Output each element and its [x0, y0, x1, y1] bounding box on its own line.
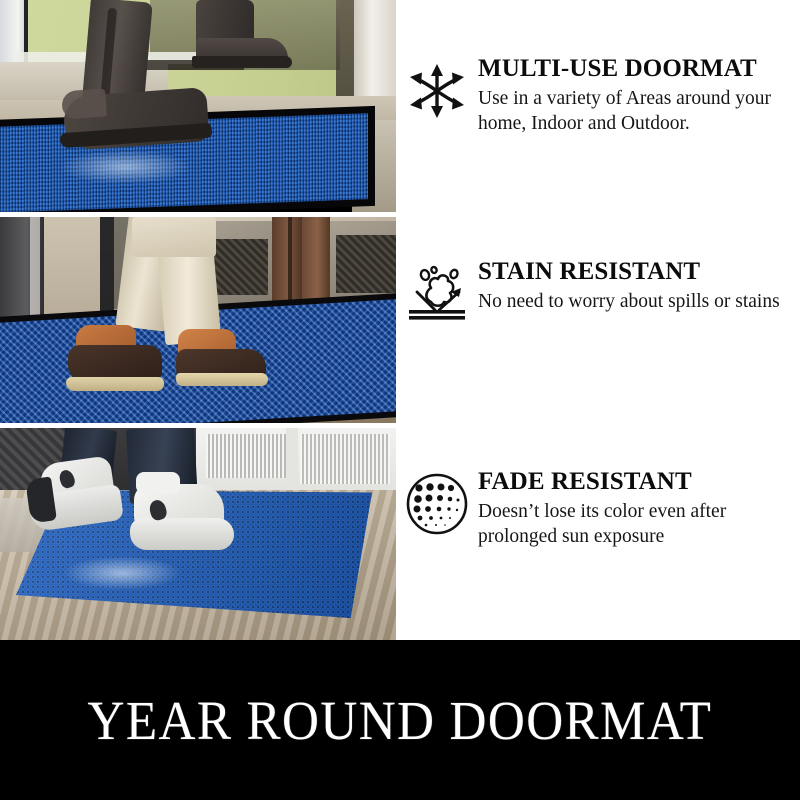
feature-title: STAIN RESISTANT — [478, 258, 786, 286]
banner-headline: YEAR ROUND DOORMAT — [88, 689, 713, 752]
product-photo-2 — [0, 217, 396, 423]
feature-list: MULTI-USE DOORMAT Use in a variety of Ar… — [396, 0, 800, 640]
bottom-banner: YEAR ROUND DOORMAT — [0, 640, 800, 800]
product-photo-column — [0, 0, 396, 640]
feature-fade-resistant: FADE RESISTANT Doesn’t lose its color ev… — [396, 468, 800, 550]
liquid-splash-repel-icon — [396, 258, 478, 326]
feature-title: FADE RESISTANT — [478, 468, 786, 496]
feature-description: Use in a variety of Areas around your ho… — [478, 86, 786, 137]
infographic-canvas: MULTI-USE DOORMAT Use in a variety of Ar… — [0, 0, 800, 800]
feature-description: No need to worry about spills or stains — [478, 289, 786, 314]
feature-description: Doesn’t lose its color even after prolon… — [478, 499, 786, 550]
product-photo-1 — [0, 0, 396, 212]
feature-title: MULTI-USE DOORMAT — [478, 55, 786, 83]
fading-dot-grid-icon — [396, 468, 478, 536]
four-way-arrows-icon — [396, 55, 478, 123]
feature-multi-use-doormat: MULTI-USE DOORMAT Use in a variety of Ar… — [396, 55, 800, 137]
product-photo-3 — [0, 428, 396, 640]
feature-stain-resistant: STAIN RESISTANT No need to worry about s… — [396, 258, 800, 326]
